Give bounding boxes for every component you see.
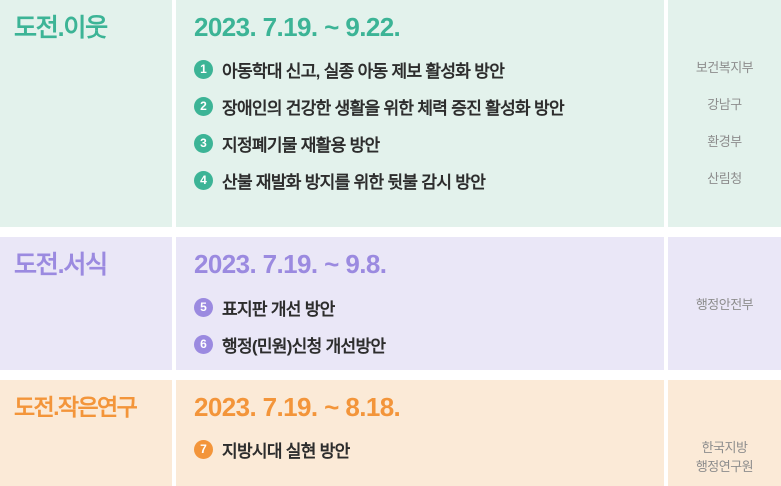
topic-list: 1 아동학대 신고, 실종 아동 제보 활성화 방안 2 장애인의 건강한 생활… [194,51,664,199]
list-item[interactable]: 2 장애인의 건강한 생활을 위한 체력 증진 활성화 방안 [194,88,664,125]
agency-name: 강남구 [707,96,741,115]
item-number-badge: 1 [194,60,213,79]
item-number-badge: 5 [194,298,213,317]
agency-row: 행정안전부 [668,287,781,324]
item-title: 표지판 개선 방안 [222,295,335,320]
item-title: 아동학대 신고, 실종 아동 제보 활성화 방안 [222,57,504,82]
list-item[interactable]: 7 지방시대 실현 방안 [194,431,664,468]
list-item[interactable]: 6 행정(민원)신청 개선방안 [194,326,664,363]
agency-spacer [668,392,781,430]
item-title: 행정(민원)신청 개선방안 [222,332,385,357]
item-number-badge: 6 [194,335,213,354]
category-cell: 도전.작은연구 [0,380,172,486]
agency-cell: 보건복지부 강남구 환경부 산림청 [668,0,781,227]
topic-list: 7 지방시대 실현 방안 [194,431,664,468]
item-number-badge: 3 [194,134,213,153]
item-title: 장애인의 건강한 생활을 위한 체력 증진 활성화 방안 [222,94,564,119]
item-number-badge: 4 [194,171,213,190]
challenge-schedule-board: 도전.이웃 2023. 7.19. ~ 9.22. 1 아동학대 신고, 실종 … [0,0,781,486]
section-challenge-neighbor: 도전.이웃 2023. 7.19. ~ 9.22. 1 아동학대 신고, 실종 … [0,0,781,227]
category-label: 도전.작은연구 [14,394,172,420]
item-title: 지정폐기물 재활용 방안 [222,131,379,156]
agency-row [668,324,781,361]
period-label: 2023. 7.19. ~ 9.8. [194,249,664,280]
agency-spacer [668,249,781,287]
agency-row: 한국지방 행정연구원 [668,430,781,486]
agency-name: 행정안전부 [696,296,753,315]
period-label: 2023. 7.19. ~ 8.18. [194,392,664,423]
agency-name: 산림청 [707,170,741,189]
category-cell: 도전.서식 [0,237,172,370]
agency-row: 산림청 [668,161,781,198]
content-cell: 2023. 7.19. ~ 9.22. 1 아동학대 신고, 실종 아동 제보 … [176,0,664,227]
section-challenge-form: 도전.서식 2023. 7.19. ~ 9.8. 5 표지판 개선 방안 6 행… [0,237,781,370]
agency-name: 환경부 [707,133,741,152]
content-cell: 2023. 7.19. ~ 9.8. 5 표지판 개선 방안 6 행정(민원)신… [176,237,664,370]
item-title: 산불 재발화 방지를 위한 뒷불 감시 방안 [222,168,485,193]
agency-cell: 한국지방 행정연구원 [668,380,781,486]
agency-row: 강남구 [668,87,781,124]
category-cell: 도전.이웃 [0,0,172,227]
item-number-badge: 7 [194,440,213,459]
agency-cell: 행정안전부 [668,237,781,370]
list-item[interactable]: 1 아동학대 신고, 실종 아동 제보 활성화 방안 [194,51,664,88]
category-label: 도전.서식 [14,251,172,280]
period-label: 2023. 7.19. ~ 9.22. [194,12,664,43]
list-item[interactable]: 4 산불 재발화 방지를 위한 뒷불 감시 방안 [194,162,664,199]
list-item[interactable]: 5 표지판 개선 방안 [194,289,664,326]
section-challenge-small-research: 도전.작은연구 2023. 7.19. ~ 8.18. 7 지방시대 실현 방안… [0,380,781,486]
list-item[interactable]: 3 지정폐기물 재활용 방안 [194,125,664,162]
topic-list: 5 표지판 개선 방안 6 행정(민원)신청 개선방안 [194,289,664,363]
item-number-badge: 2 [194,97,213,116]
item-title: 지방시대 실현 방안 [222,437,350,462]
agency-name: 보건복지부 [696,59,753,78]
agency-name: 한국지방 행정연구원 [696,439,753,477]
agency-row: 환경부 [668,124,781,161]
content-cell: 2023. 7.19. ~ 8.18. 7 지방시대 실현 방안 [176,380,664,486]
agency-spacer [668,12,781,50]
category-label: 도전.이웃 [14,14,172,43]
agency-row: 보건복지부 [668,50,781,87]
